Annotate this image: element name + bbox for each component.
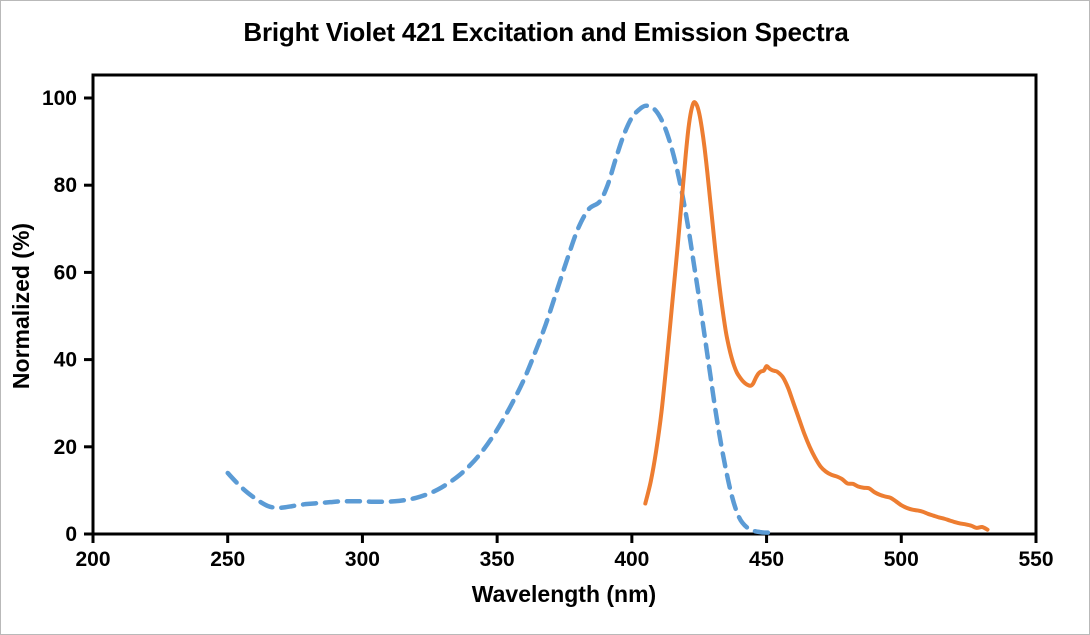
x-tick-label-500: 500	[884, 548, 919, 571]
data-series	[228, 102, 988, 533]
tick-marks	[84, 98, 1036, 543]
x-tick-label-400: 400	[614, 548, 649, 571]
x-axis-title: Wavelength (nm)	[472, 581, 656, 607]
y-tick-label-100: 100	[42, 87, 77, 110]
y-tick-label-40: 40	[54, 349, 77, 372]
y-tick-label-60: 60	[54, 261, 77, 284]
axes	[93, 75, 1036, 534]
chart-figure: Bright Violet 421 Excitation and Emissio…	[0, 0, 1090, 635]
x-tick-label-550: 550	[1018, 548, 1053, 571]
series-line-emission	[645, 102, 987, 530]
y-tick-label-20: 20	[54, 436, 77, 459]
series-line-excitation	[228, 106, 772, 533]
plot-frame	[93, 75, 1036, 534]
x-tick-label-200: 200	[75, 548, 110, 571]
x-tick-labels: 200250300350400450500550	[75, 548, 1053, 571]
x-tick-label-350: 350	[480, 548, 515, 571]
x-tick-label-300: 300	[345, 548, 380, 571]
y-axis-title: Normalized (%)	[8, 223, 34, 389]
spectra-plot: 200250300350400450500550 020406080100 Wa…	[1, 1, 1090, 635]
x-tick-label-250: 250	[210, 548, 245, 571]
y-tick-label-0: 0	[65, 523, 77, 546]
y-tick-label-80: 80	[54, 174, 77, 197]
y-tick-labels: 020406080100	[42, 87, 77, 546]
x-tick-label-450: 450	[749, 548, 784, 571]
